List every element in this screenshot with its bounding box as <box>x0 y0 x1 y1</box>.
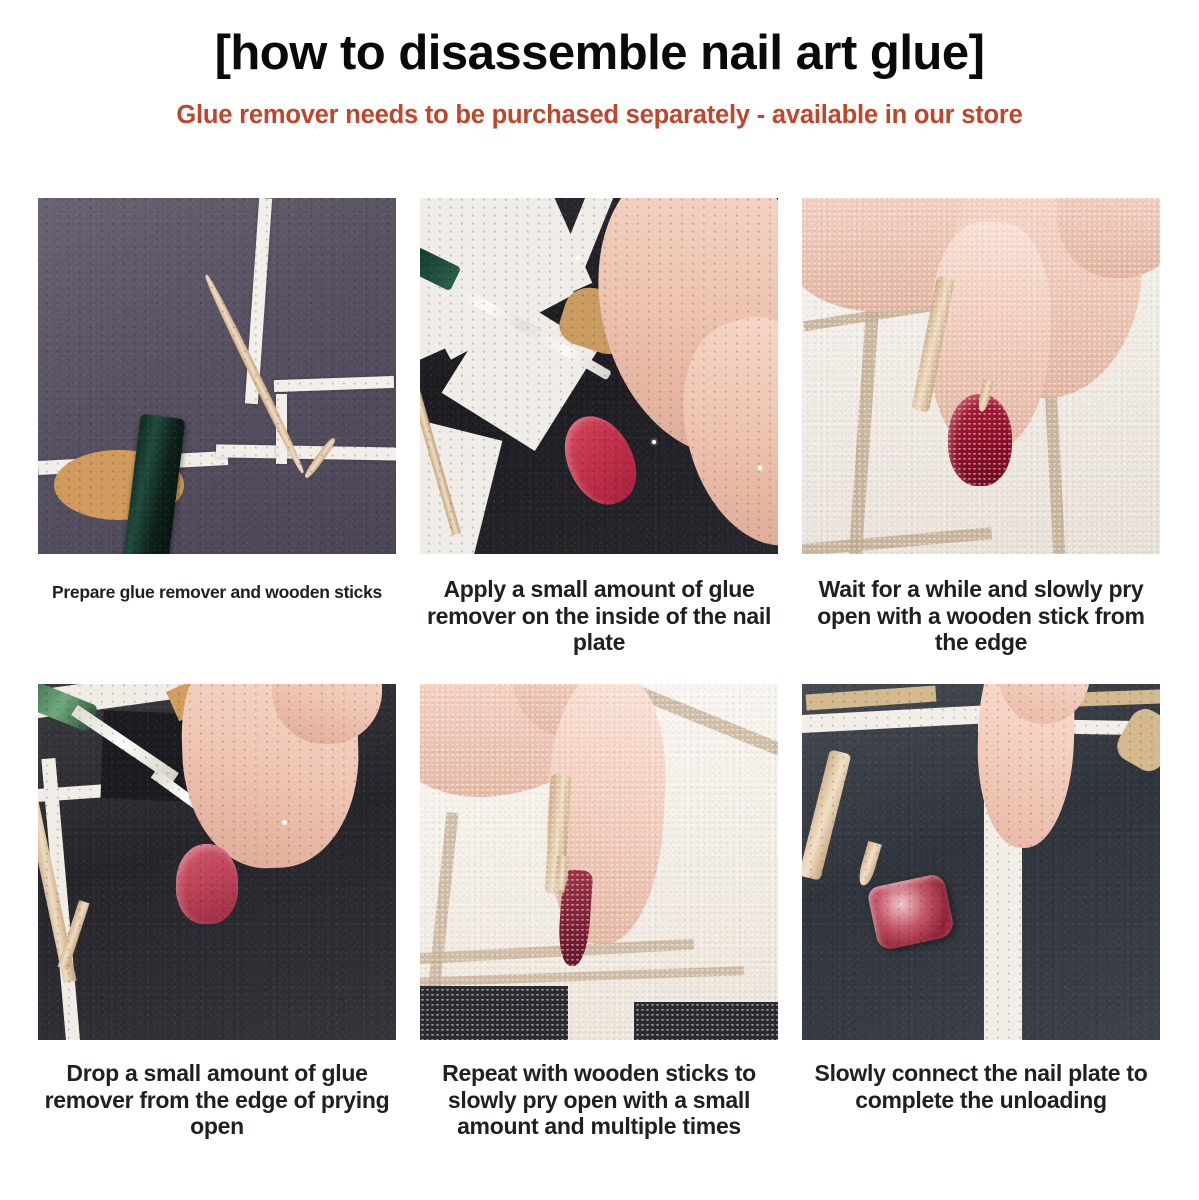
pink-nail <box>176 844 238 924</box>
step-photo-2 <box>420 198 778 554</box>
step-caption-1: Prepare glue remover and wooden sticks <box>41 554 393 602</box>
step-photo-1: BOND Debonder AD-1 NET:5.5ml SHANGHAI SH… <box>38 198 396 554</box>
steps-grid: BOND Debonder AD-1 NET:5.5ml SHANGHAI SH… <box>38 198 1160 1140</box>
step-photo-5 <box>420 684 778 1040</box>
step-card-6: Slowly connect the nail plate to complet… <box>802 684 1160 1140</box>
painted-nail <box>551 405 649 516</box>
step-card-1: BOND Debonder AD-1 NET:5.5ml SHANGHAI SH… <box>38 198 396 656</box>
step-caption-5: Repeat with wooden sticks to slowly pry … <box>423 1040 775 1140</box>
removed-nail-plate <box>866 873 956 952</box>
page-subtitle: Glue remover needs to be purchased separ… <box>0 79 1199 129</box>
row-spacer <box>38 656 1160 684</box>
step-card-2: Apply a small amount of glue remover on … <box>420 198 778 656</box>
page-title: [how to disassemble nail art glue] <box>0 28 1199 79</box>
infographic-page: [how to disassemble nail art glue] Glue … <box>0 0 1199 1200</box>
step-photo-6 <box>802 684 1160 1040</box>
step-card-5: Repeat with wooden sticks to slowly pry … <box>420 684 778 1140</box>
step-caption-6: Slowly connect the nail plate to complet… <box>805 1040 1157 1113</box>
page-header: [how to disassemble nail art glue] Glue … <box>0 0 1199 129</box>
step-caption-2: Apply a small amount of glue remover on … <box>423 554 775 656</box>
step-card-4: Drop a small amount of glue remover from… <box>38 684 396 1140</box>
step-card-3: Wait for a while and slowly pry open wit… <box>802 198 1160 656</box>
step-photo-3 <box>802 198 1160 554</box>
step-photo-4 <box>38 684 396 1040</box>
step-caption-3: Wait for a while and slowly pry open wit… <box>805 554 1157 656</box>
step-caption-4: Drop a small amount of glue remover from… <box>41 1040 393 1140</box>
